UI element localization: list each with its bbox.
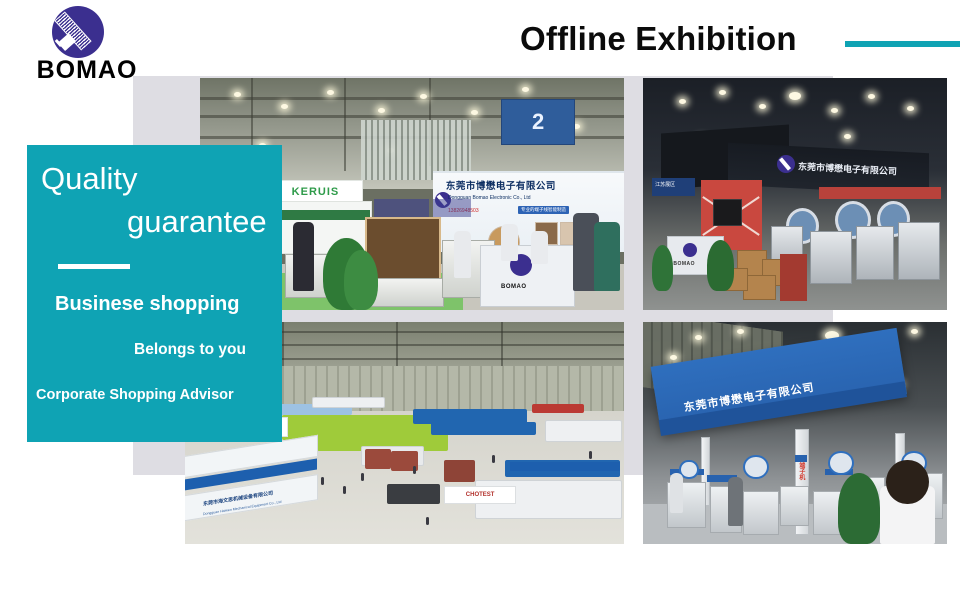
slide-canvas: BOMAO Offline Exhibition 2 东莞市博懋电子有限公司 D… (0, 0, 960, 596)
booth-counter-wordmark: BOMAO (501, 284, 527, 290)
callout-line-5: Corporate Shopping Advisor (36, 385, 234, 405)
callout-line-2: guarantee (127, 205, 267, 239)
hall-number-sign: 2 (501, 99, 575, 145)
brand-logo: BOMAO (26, 6, 138, 80)
booth-counter-logo-icon (683, 243, 697, 257)
callout-divider (58, 264, 130, 269)
neighbor-booth-sign: KERUIS (268, 180, 363, 203)
neighbor-banner-text: 江苏展区 (655, 181, 675, 188)
bomao-cable-plug-icon (52, 6, 104, 58)
page-title: Offline Exhibition (520, 20, 797, 58)
callout-line-1: Quality (41, 162, 137, 196)
photo-dark-booth-red-wall: 东莞市博懋电子有限公司 江苏展区 BOMAO (643, 78, 947, 310)
booth-wall-tagline: 专业的端子线智能制造 (518, 206, 569, 214)
quality-guarantee-panel: Quality guarantee Businese shopping Belo… (27, 145, 282, 442)
title-accent-rule (845, 41, 960, 47)
callout-line-3: Businese shopping (55, 292, 239, 316)
brand-wordmark: BOMAO (26, 58, 148, 83)
column-label-cn: 端子机 (797, 462, 806, 480)
booth-wall-company-cn: 东莞市博懋电子有限公司 (446, 178, 556, 192)
booth-sign-chotest: CHOTEST (444, 486, 516, 504)
booth-counter-wordmark: BOMAO (673, 261, 695, 267)
photo-blue-canopy-booth: 东莞市博懋电子有限公司 端子机 (643, 322, 947, 544)
booth-header-logo-icon (777, 155, 795, 173)
callout-line-4: Belongs to you (134, 340, 246, 360)
